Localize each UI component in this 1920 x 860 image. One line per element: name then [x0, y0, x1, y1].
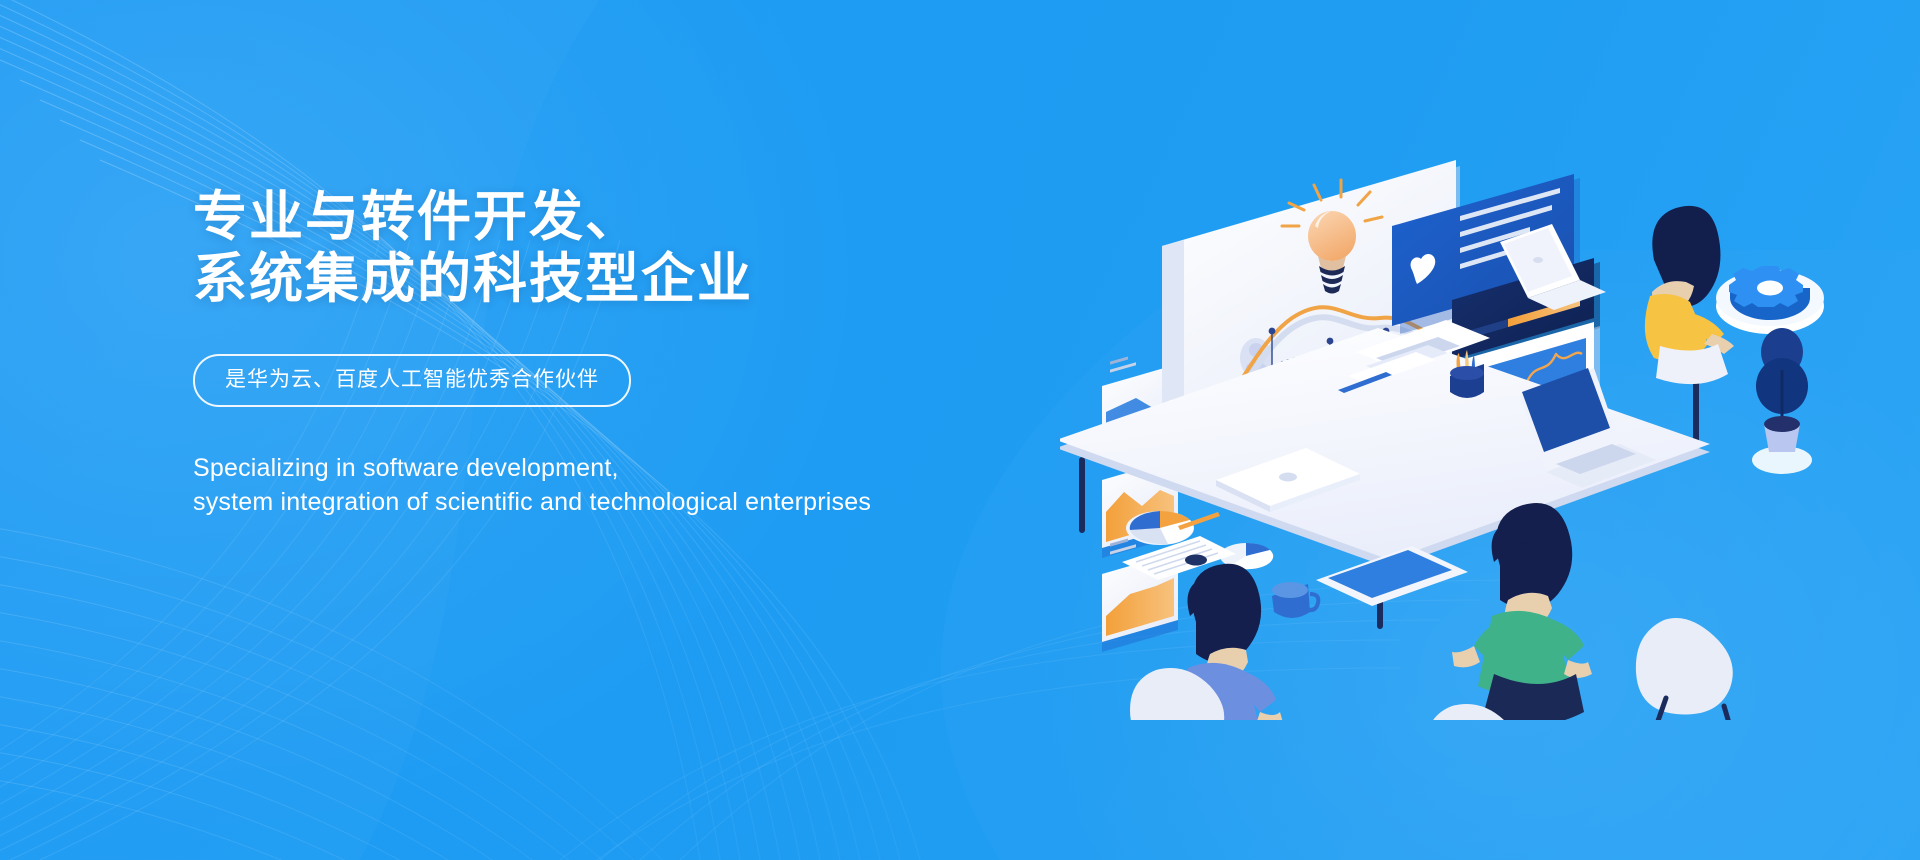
subtitle-line-2: system integration of scientific and tec…: [193, 485, 1073, 519]
partner-badge: 是华为云、百度人工智能优秀合作伙伴: [193, 354, 631, 407]
hero-copy: 专业与转件开发、 系统集成的科技型企业 是华为云、百度人工智能优秀合作伙伴 Sp…: [193, 186, 1073, 519]
coffee-mug-icon: [1272, 582, 1318, 618]
subtitle-line-1: Specializing in software development,: [193, 451, 1073, 485]
headline-line-2: 系统集成的科技型企业: [193, 248, 1073, 310]
plant-icon: [1752, 328, 1812, 474]
hero-banner: 专业与转件开发、 系统集成的科技型企业 是华为云、百度人工智能优秀合作伙伴 Sp…: [0, 0, 1920, 860]
hero-illustration: 65 123 97 81: [1060, 60, 1920, 720]
hero-subtitle: Specializing in software development, sy…: [193, 451, 1073, 519]
headline-line-1: 专业与转件开发、: [193, 186, 1073, 248]
page-title: 专业与转件开发、 系统集成的科技型企业: [193, 186, 1073, 310]
chair-icon-right: [1636, 618, 1734, 720]
gear-icon: [1716, 266, 1824, 334]
tablet-icon: [1316, 546, 1468, 606]
